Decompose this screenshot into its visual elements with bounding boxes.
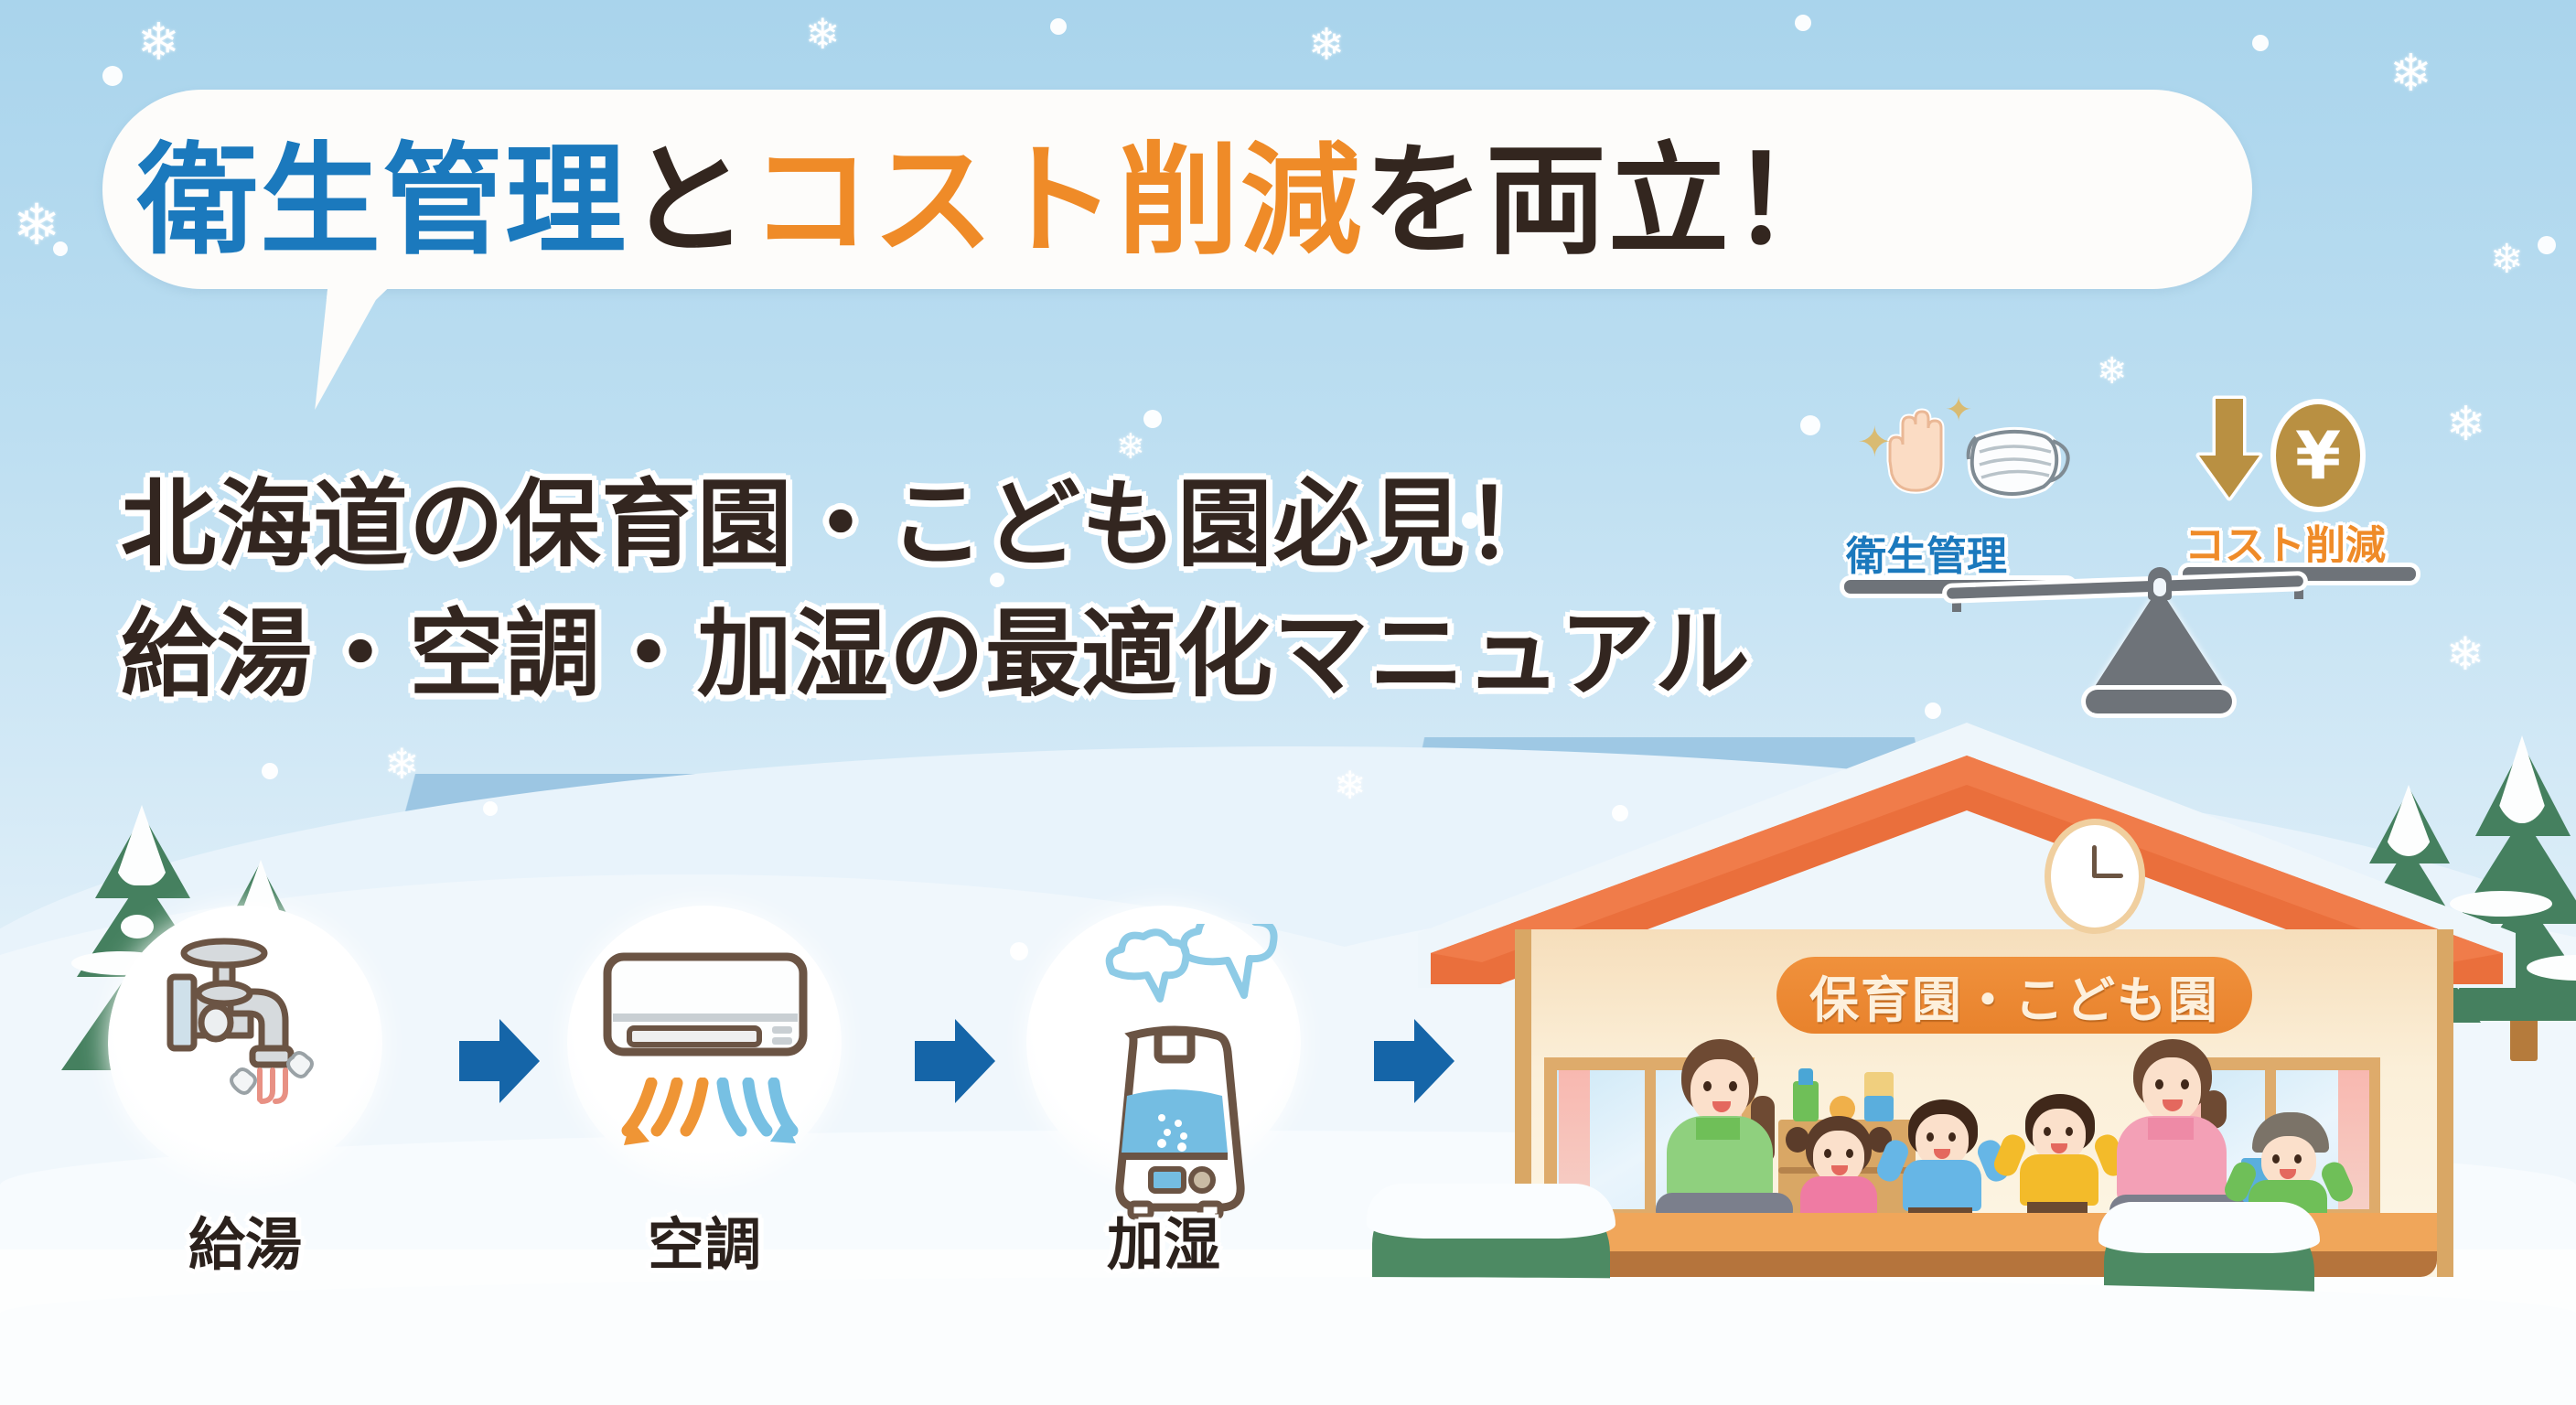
snow-dot [1800,415,1820,435]
steam-icon [1089,924,1281,1043]
balance-pivot-hole [2153,578,2166,596]
snow-dot [53,241,68,256]
yen-coin-icon: ¥ [2276,404,2360,507]
step-label-air-conditioning: 空調 [567,1198,842,1281]
snowflake-icon: ❄ [137,16,180,68]
snow-dot [483,801,498,816]
headline-part-cost: コスト削減 [750,103,1363,278]
snowflake-icon: ❄ [2490,240,2524,280]
snow-bush-cap [2098,1202,2320,1253]
face-mask-icon [1965,424,2073,499]
subtitle-line-1: 北海道の保育園・こども園必見！ [121,446,1562,585]
step-label-hot-water: 給湯 [108,1198,382,1281]
poster-canvas: ❄ ❄ ❄ ❄ ❄ ❄ ❄ ❄ ❄ ❄ ❄ ❄ ❄ [0,0,2576,1405]
down-arrow-icon [2195,395,2263,503]
arrow-right-icon [457,1017,542,1105]
balance-scale-illustration: ✦ ✦ ¥ 衛生管理 コスト削減 [1837,384,2422,713]
snow-dot [1050,18,1067,35]
humidifier-icon [1101,1023,1248,1220]
snowflake-icon: ❄ [1334,767,1366,805]
snow-dot [102,66,123,86]
subtitle-line-2: 給湯・空調・加湿の最適化マニュアル [121,576,1751,714]
faucet-icon [156,933,338,1116]
snowflake-icon: ❄ [1308,24,1345,68]
snow-dot [1143,410,1162,428]
balance-base [2086,690,2232,713]
balance-fulcrum [2086,587,2232,701]
snow-foreground [0,1277,2576,1405]
toy-bottle-cap [1798,1068,1813,1085]
snow-dot [1795,15,1811,31]
balance-right-label: コスト削減 [2184,512,2386,571]
snow-dot [2538,236,2556,254]
headline-part-and: と [628,103,750,278]
snowflake-icon: ❄ [384,743,420,785]
arrow-right-icon [913,1017,997,1105]
snowflake-icon: ❄ [2446,631,2485,677]
headline-part-tail: を両立！ [1363,103,1853,278]
airflow-arrows-icon [611,1078,803,1162]
snowflake-icon: ❄ [2446,401,2486,448]
snow-bush-cap [1367,1184,1615,1239]
snow-dot [1010,942,1028,960]
snowflake-icon: ❄ [805,13,841,55]
snow-dot [2252,35,2269,51]
page-title: 衛生管理 と コスト削減 を両立！ [137,108,2223,273]
clock-icon [2051,825,2139,928]
speech-bubble-tail [315,274,402,410]
sparkle-icon: ✦ [1857,421,1893,463]
house-sign: 保育園・こども園 [1776,957,2252,1034]
balance-left-label: 衛生管理 [1846,523,2007,582]
step-label-humidification: 加湿 [1026,1198,1301,1281]
headline-part-hygiene: 衛生管理 [137,103,628,278]
sparkle-icon: ✦ [1945,393,1972,426]
teacher-left [1654,1039,1800,1222]
snow-dot [262,763,278,779]
snowflake-icon: ❄ [2389,48,2432,99]
